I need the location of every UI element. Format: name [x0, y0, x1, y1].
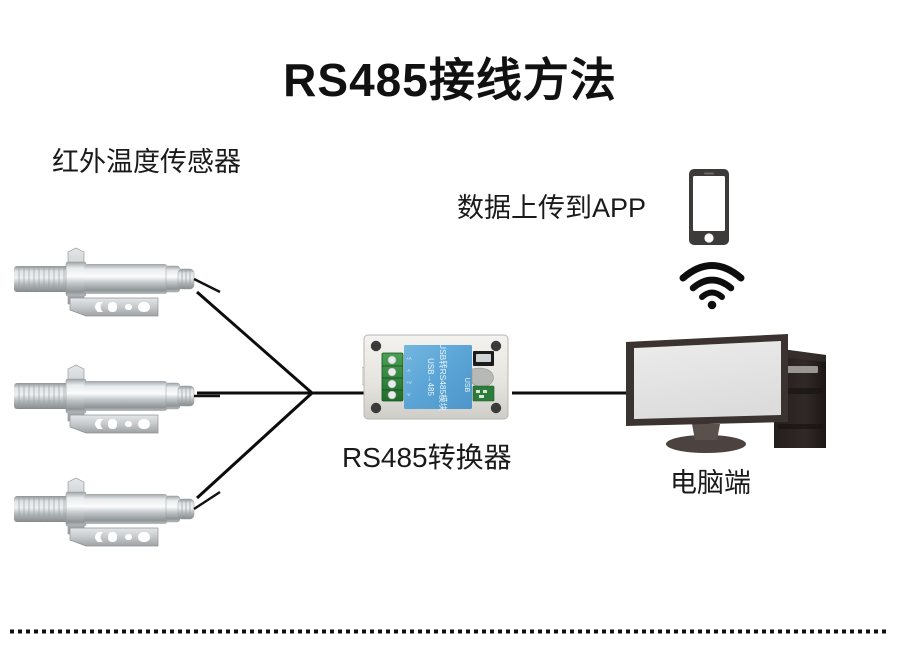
sensor-body [84, 381, 168, 411]
sensor-nut [66, 492, 86, 526]
label-computer-terminal: 电脑端 [670, 461, 751, 500]
computer-graphic [618, 326, 838, 456]
sensor-thread [14, 266, 70, 292]
sensor-graphic [8, 355, 223, 465]
wifi-arc-outer [683, 266, 741, 279]
usb-connector-inner [476, 354, 491, 362]
phone-screen [693, 176, 725, 231]
sensor-unit-3[interactable] [8, 468, 223, 578]
converter-board [404, 345, 472, 409]
sub-pcb [473, 386, 494, 401]
sensor-unit-1[interactable] [8, 238, 223, 348]
board-label-usb: USB [463, 378, 470, 393]
svg-text:+A: +A [406, 356, 413, 361]
monitor-neck [692, 424, 720, 440]
wifi-arc-inner [702, 293, 722, 298]
optical-drive-slot[interactable] [784, 366, 818, 373]
board-label-sub: USB→485 [426, 358, 435, 396]
sensor-cable [194, 279, 220, 292]
bottom-dotted-divider [10, 629, 890, 634]
rs485-converter-module[interactable]: USB转RS485模块 USB→485 USB +A -A +V -V [362, 333, 510, 421]
monitor-screen[interactable] [634, 341, 781, 419]
label-rs485-converter: RS485转换器 [342, 436, 512, 476]
sensor-body [84, 264, 168, 294]
sensor-body [84, 494, 168, 524]
sensor-graphic [8, 468, 223, 578]
wifi-dot [708, 301, 717, 310]
sensor-unit-2[interactable] [8, 355, 223, 465]
wifi-arc-middle [693, 280, 731, 288]
board-label-main: USB转RS485模块 [438, 343, 448, 412]
converter-graphic: USB转RS485模块 USB→485 USB +A -A +V -V [362, 333, 510, 421]
metal-shield [472, 368, 493, 387]
label-data-upload-to-app: 数据上传到APP [457, 186, 646, 225]
sensor-cable [194, 492, 220, 509]
sensor-thread [14, 496, 70, 522]
label-infrared-temperature-sensor: 红外温度传感器 [52, 140, 241, 179]
sensor-thread [14, 383, 70, 409]
wifi-signal-icon [678, 258, 746, 310]
sensor-nut [66, 379, 86, 413]
sensor-graphic [8, 238, 223, 348]
diagram-canvas: RS485接线方法 [0, 0, 900, 665]
sensor-nut [66, 262, 86, 296]
phone-home-button[interactable] [704, 233, 713, 242]
mounting-ear-left [362, 367, 364, 385]
computer-desktop[interactable] [618, 326, 838, 456]
tower-seam [778, 424, 823, 429]
phone-icon [688, 168, 730, 246]
phone-speaker [704, 173, 714, 175]
smartphone-app[interactable] [688, 168, 730, 246]
wifi-icon [678, 258, 746, 310]
svg-text:+V: +V [406, 380, 413, 385]
